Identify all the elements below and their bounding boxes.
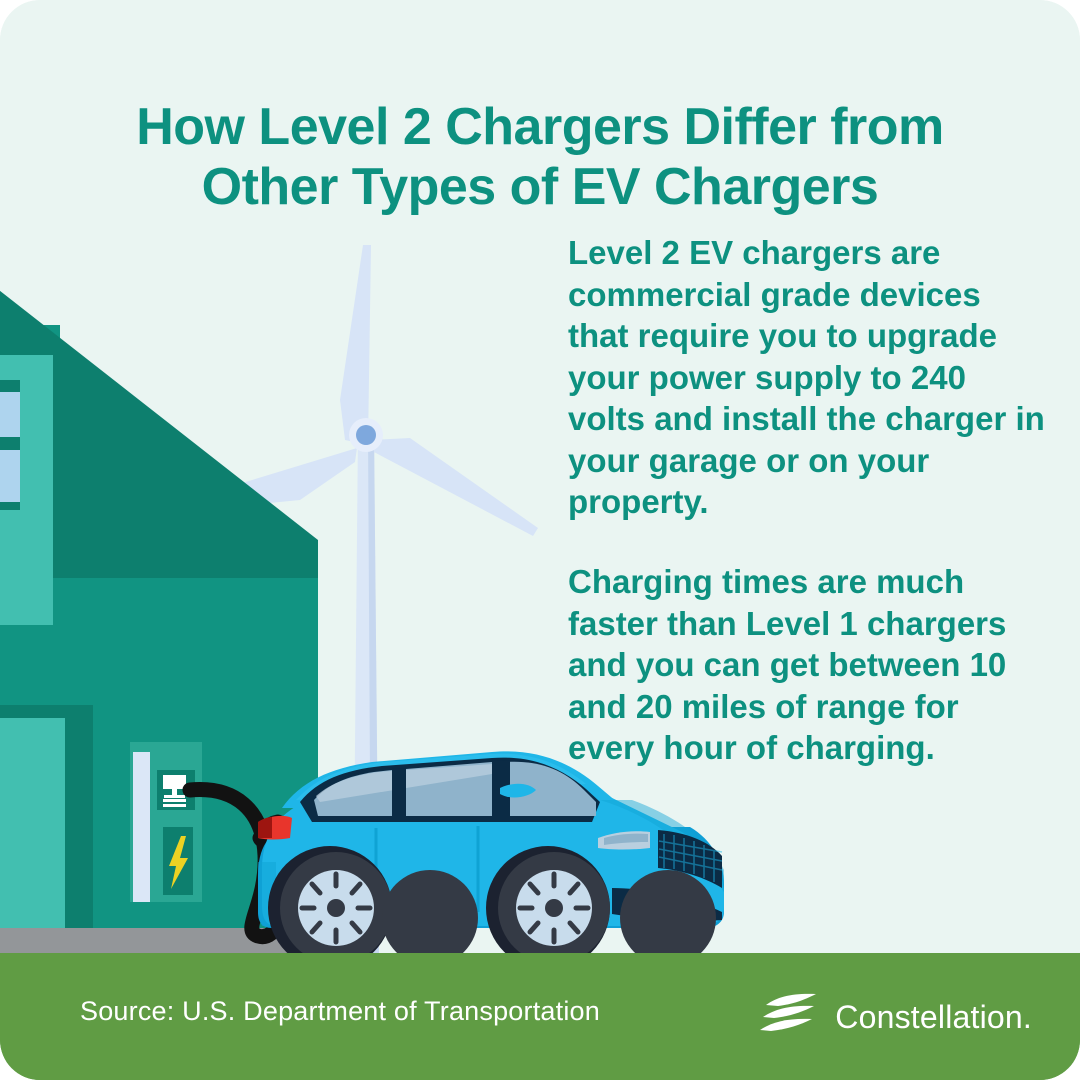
page-title-line-2: Other Types of EV Chargers (60, 157, 1020, 217)
body-paragraph-2: Charging times are much faster than Leve… (568, 561, 1046, 769)
constellation-logo: Constellation. (760, 993, 1032, 1041)
body-paragraph-1: Level 2 EV chargers are commercial grade… (568, 232, 1046, 523)
page-title: How Level 2 Chargers Differ from Other T… (60, 97, 1020, 218)
source-attribution: Source: U.S. Department of Transportatio… (80, 996, 600, 1027)
page-title-line-1: How Level 2 Chargers Differ from (60, 97, 1020, 157)
constellation-wordmark: Constellation. (835, 999, 1032, 1036)
constellation-swoosh-logo (760, 993, 822, 1041)
footer: Source: U.S. Department of Transportatio… (0, 953, 1080, 1080)
infographic-card: How Level 2 Chargers Differ from Other T… (0, 0, 1080, 1080)
content-layer: How Level 2 Chargers Differ from Other T… (0, 0, 1080, 1080)
body-copy: Level 2 EV chargers are commercial grade… (568, 232, 1046, 769)
